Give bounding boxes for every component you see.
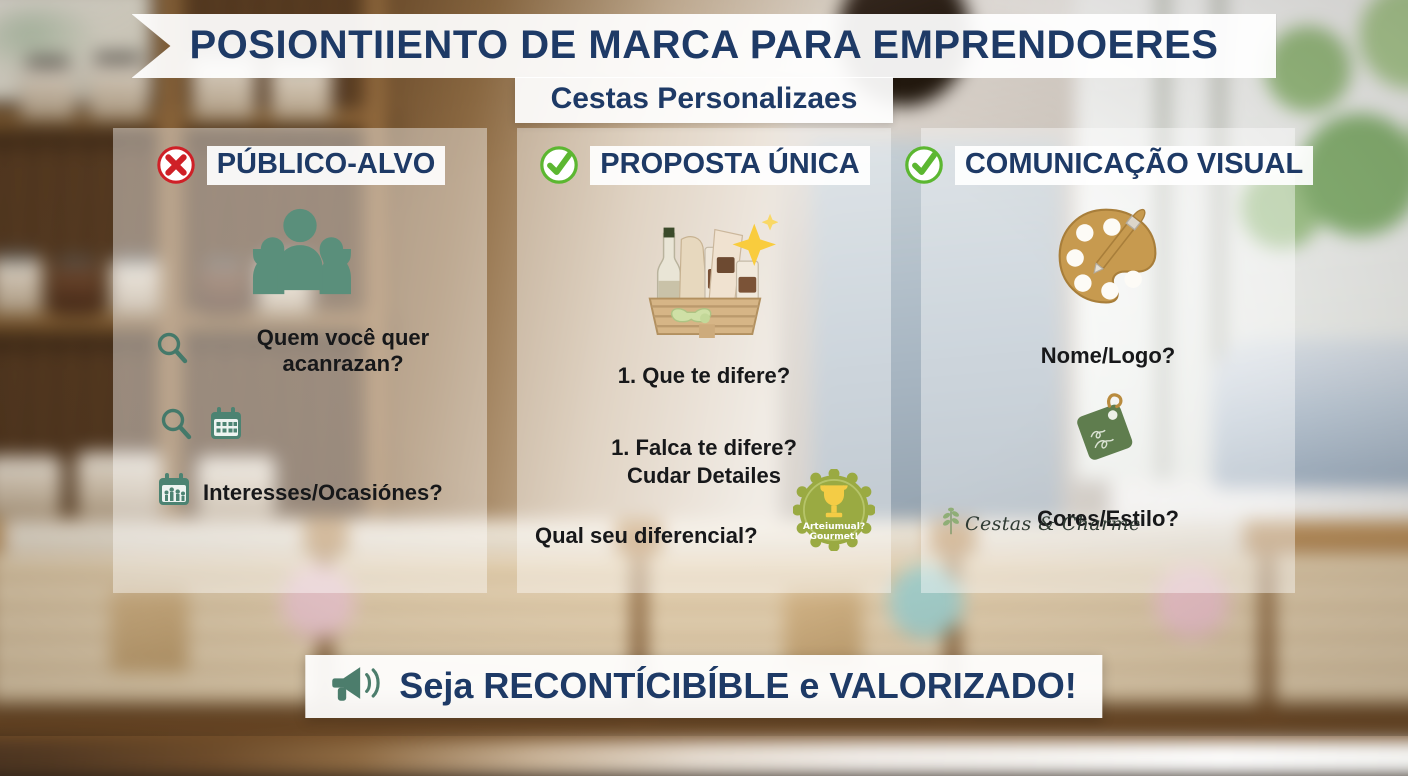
brand-logo: Cestas & Charme [941,506,1141,541]
paint-palette-icon [1050,200,1166,321]
card-body: Nome/Logo? Cores/Estilo? [921,186,1295,593]
card1-row-1-label: Quem você quer acanrazan? [199,325,487,377]
badge-line-2: Gourmet! [810,532,859,542]
card1-row-3: Interesses/Ocasiónes? [155,471,443,515]
card-body: Quem você quer acanrazan? [113,186,487,593]
card3-row-1-label: Nome/Logo? [1041,343,1175,369]
group-of-people-icon [241,200,359,303]
gift-basket-icon [630,200,778,343]
title-ribbon-banner: POSIONTIIENTO DE MARCA PARA EMPRENDOERES [132,14,1277,78]
price-tag-icon [1065,387,1151,478]
card2-row-1: 1. Que te difere? [618,363,790,389]
card1-row-2 [159,405,245,449]
title-block: POSIONTIIENTO DE MARCA PARA EMPRENDOERES… [0,14,1408,123]
card1-row-3-label: Interesses/Ocasiónes? [203,480,443,506]
card-title: PROPOSTA ÚNICA [590,146,869,185]
magnifier-icon [159,407,193,447]
card2-row-3-label: Qual seu diferencial? [535,523,758,549]
magnifier-icon [155,331,189,371]
card3-row-1: Nome/Logo? [1041,343,1175,369]
card-body: 1. Que te difere? 1. Falca te difere? Cu… [517,186,891,593]
subtitle-banner: Cestas Personalizaes [515,77,894,123]
page-title: POSIONTIIENTO DE MARCA PARA EMPRENDOERES [190,23,1219,67]
red-x-circle-icon [155,144,197,186]
card-title: PÚBLICO-ALVO [207,146,446,185]
badge-line-1: Arteiumual? [803,522,865,532]
card-header: COMUNICAÇÃO VISUAL [903,144,1313,186]
footer-banner[interactable]: Seja RECONTÍCIBÍBLE e VALORIZADO! [305,655,1102,718]
cards-row: PÚBLICO-ALVO [0,128,1408,593]
crate-kraft-tag [110,590,188,674]
card-publico-alvo[interactable]: PÚBLICO-ALVO [113,128,487,593]
card2-row-1-label: 1. Que te difere? [618,363,790,389]
card2-row-2-label: 1. Falca te difere? [611,435,797,461]
card2-row-2: 1. Falca te difere? Cudar Detailes [611,435,797,489]
card1-row-1: Quem você quer acanrazan? [155,325,487,377]
sprig-icon [941,506,961,541]
card2-row-2-label-second: Cudar Detailes [627,463,781,489]
green-check-circle-icon [903,144,945,186]
megaphone-icon [331,662,385,709]
card-comunicacao-visual[interactable]: COMUNICAÇÃO VISUAL [921,128,1295,593]
card-proposta-unica[interactable]: PROPOSTA ÚNICA [517,128,891,593]
page-subtitle: Cestas Personalizaes [551,82,858,115]
card-header: PÚBLICO-ALVO [155,144,446,186]
calendar-people-icon [155,471,193,515]
card-title: COMUNICAÇÃO VISUAL [955,146,1313,185]
card-header: PROPOSTA ÚNICA [538,144,869,186]
card2-row-3: Qual seu diferencial? [535,523,758,549]
calendar-icon [207,405,245,449]
green-check-circle-icon [538,144,580,186]
footer-label: Seja RECONTÍCIBÍBLE e VALORIZADO! [399,665,1076,707]
gourmet-award-badge: Arteiumual? Gourmet! [793,469,875,551]
brand-logo-text: Cestas & Charme [965,513,1141,535]
